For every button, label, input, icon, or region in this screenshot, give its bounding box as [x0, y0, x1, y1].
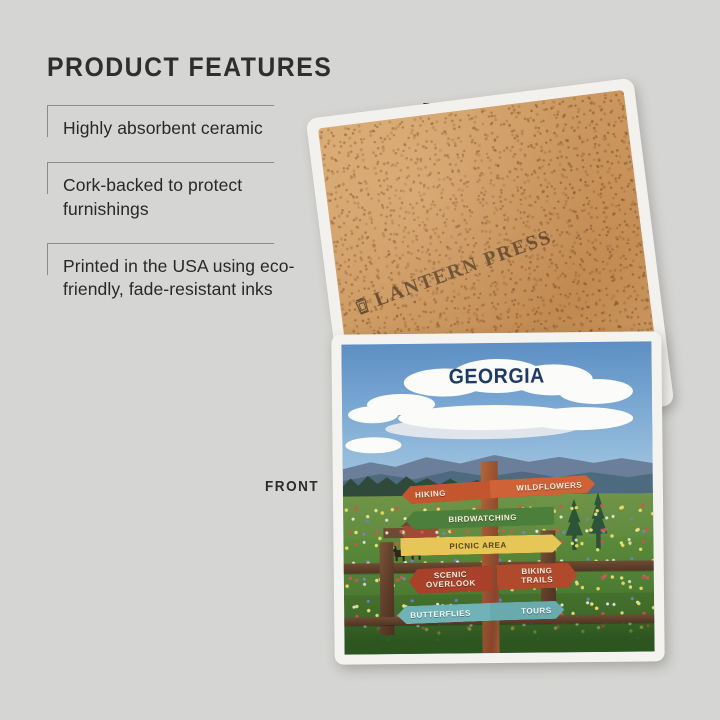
- feature-text: Cork-backed to protect furnishings: [63, 162, 312, 221]
- sign-biking-trails: BIKING TRAILS: [497, 562, 578, 590]
- sign-scenic-overlook: SCENIC OVERLOOK: [408, 566, 493, 594]
- divider-tick: [47, 105, 48, 137]
- sign-line-2: OVERLOOK: [426, 579, 476, 589]
- product-features-panel: PRODUCT FEATURES Highly absorbent cerami…: [47, 52, 312, 301]
- lantern-icon: [352, 295, 373, 317]
- divider: [47, 105, 274, 106]
- page-title: PRODUCT FEATURES: [47, 52, 291, 83]
- brand-mark: LANTERN PRESS: [351, 212, 594, 320]
- divider-tick: [47, 243, 48, 275]
- feature-text: Printed in the USA using eco-friendly, f…: [63, 243, 312, 302]
- divider: [47, 243, 274, 244]
- artwork-title: GEORGIA: [352, 363, 641, 390]
- artwork-surface: GEORGIA HIKING WILDFLOWERS BIRDWATCHING …: [341, 341, 654, 654]
- feature-text: Highly absorbent ceramic: [63, 105, 312, 140]
- brand-name: LANTERN PRESS: [371, 226, 555, 312]
- sign-line-2: TRAILS: [522, 575, 554, 584]
- label-front: FRONT: [265, 478, 319, 495]
- sign-butterflies: BUTTERFLIES: [397, 603, 497, 625]
- feature-item: Printed in the USA using eco-friendly, f…: [47, 243, 312, 302]
- feature-item: Highly absorbent ceramic: [47, 105, 312, 140]
- divider: [47, 162, 274, 163]
- sign-tours: TOURS: [490, 600, 565, 620]
- feature-item: Cork-backed to protect furnishings: [47, 162, 312, 221]
- divider-tick: [47, 162, 48, 194]
- coaster-front-image: GEORGIA HIKING WILDFLOWERS BIRDWATCHING …: [331, 331, 664, 664]
- cloud: [345, 437, 401, 453]
